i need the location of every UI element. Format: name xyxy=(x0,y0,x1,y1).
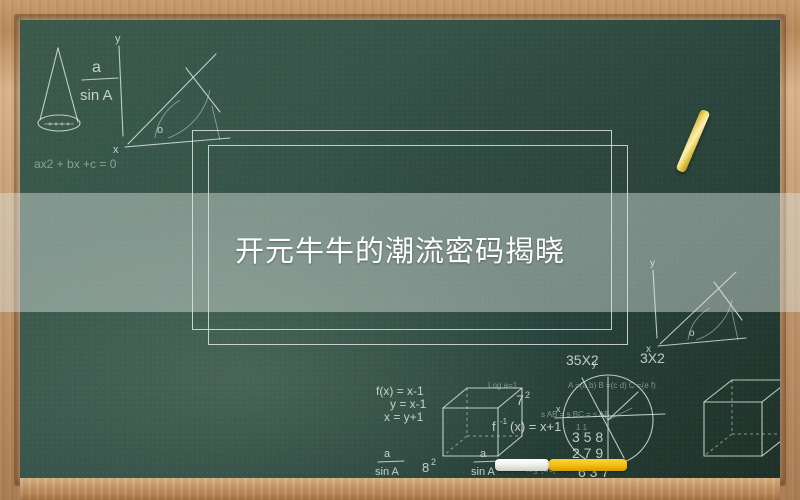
svg-text:x: x xyxy=(113,144,119,156)
blackboard-banner-image: a sin A ax2 + bx +c = 0 y x xyxy=(0,0,800,500)
cube-drawing-right xyxy=(704,380,780,456)
chalk-ledge xyxy=(20,478,780,500)
svg-text:a: a xyxy=(480,448,487,460)
cone-drawing xyxy=(38,48,80,131)
white-chalk-icon xyxy=(495,459,549,471)
fraction-a-over-sinA-topleft: a sin A xyxy=(80,59,118,104)
log-a-note: Log a=1 xyxy=(488,381,518,390)
function-equations-center: f(x) = x-1 y = x-1 x = y+1 xyxy=(376,384,427,424)
fraction-a-over-sinA-bottomleft: a sin A xyxy=(375,448,404,478)
power-seven-squared: 7 2 xyxy=(516,390,530,408)
svg-text:sin A: sin A xyxy=(80,87,113,104)
svg-text:o: o xyxy=(157,124,163,136)
matrix-expression: A =(a b) B =(c d) C =(e f) xyxy=(568,381,656,390)
svg-text:a: a xyxy=(92,59,101,76)
svg-text:a: a xyxy=(384,448,391,460)
svg-text:8: 8 xyxy=(422,460,429,475)
svg-text:7: 7 xyxy=(516,392,524,408)
svg-text:f: f xyxy=(492,419,496,434)
svg-text:sin A: sin A xyxy=(471,466,496,478)
svg-text:y: y xyxy=(115,33,121,45)
svg-text:(x) = x+1: (x) = x+1 xyxy=(510,419,561,434)
svg-text:y = x-1: y = x-1 xyxy=(390,397,427,411)
svg-text:f(x) = x-1: f(x) = x-1 xyxy=(376,384,424,398)
svg-text:2: 2 xyxy=(431,457,436,467)
inverse-function-expression: f -1 (x) = x+1 xyxy=(492,417,561,434)
yellow-chalk-tray-icon xyxy=(549,459,627,471)
svg-text:3 5 8: 3 5 8 xyxy=(572,429,603,445)
power-eight-squared: 8 2 xyxy=(422,457,436,475)
svg-text:-1: -1 xyxy=(500,417,508,426)
svg-text:x = y+1: x = y+1 xyxy=(384,410,424,424)
svg-text:o: o xyxy=(689,328,695,339)
svg-text:x: x xyxy=(556,404,561,414)
svg-text:sin A: sin A xyxy=(375,466,400,478)
svg-text:2: 2 xyxy=(525,390,530,400)
page-title: 开元牛牛的潮流密码揭晓 xyxy=(0,228,800,270)
expression-3x2: 3X2 xyxy=(640,350,665,366)
svg-text:y: y xyxy=(592,359,597,369)
quadratic-equation: ax2 + bx +c = 0 xyxy=(34,157,117,171)
angle-axis-diagram-right: y x o xyxy=(646,258,746,355)
